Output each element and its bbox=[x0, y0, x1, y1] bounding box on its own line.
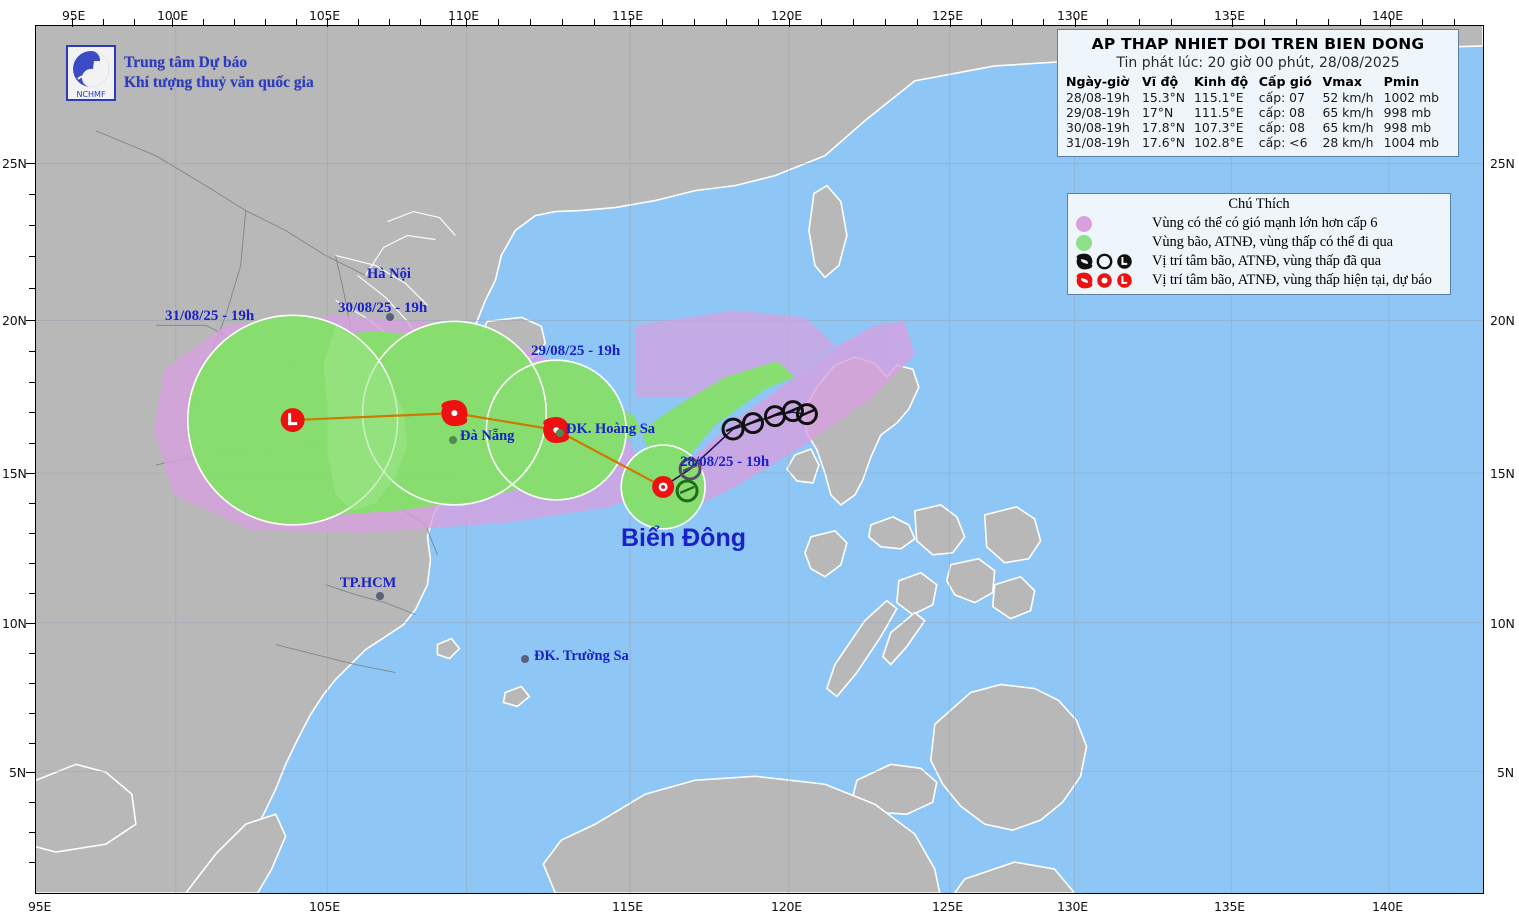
black-typhoon-icon bbox=[1076, 253, 1093, 270]
tick-top bbox=[451, 19, 452, 25]
tick-top bbox=[981, 19, 982, 25]
city-label-ha-noi: Hà Nội bbox=[367, 266, 411, 283]
cell-lon: 115.1°E bbox=[1194, 90, 1259, 105]
tick-top bbox=[1328, 19, 1329, 25]
tick-top bbox=[134, 19, 135, 25]
tick-left bbox=[29, 503, 35, 504]
time-label-31-08: 31/08/25 - 19h bbox=[165, 308, 254, 325]
nchmf-logo-text: Trung tâm Dự báo Khí tượng thuỷ văn quốc… bbox=[124, 53, 314, 93]
tick-left bbox=[29, 256, 35, 257]
tick-left bbox=[29, 653, 35, 654]
lon-label-bottom-135e: 135E bbox=[1214, 899, 1245, 914]
tick-top bbox=[103, 19, 104, 25]
col-lat: Vĩ độ bbox=[1142, 74, 1194, 90]
red-low-icon bbox=[1116, 272, 1133, 289]
tick-top bbox=[1296, 19, 1297, 25]
black-low-icon bbox=[1116, 253, 1133, 270]
tick-top bbox=[853, 19, 854, 25]
tick-top bbox=[1390, 18, 1391, 27]
tick-top bbox=[203, 19, 204, 25]
storm-info-title: AP THAP NHIET DOI TREN BIEN DONG bbox=[1066, 35, 1450, 53]
cell-datetime: 30/08-19h bbox=[1066, 120, 1142, 135]
legend-label-gale-area: Vùng có thể có gió mạnh lớn hơn cấp 6 bbox=[1152, 215, 1377, 232]
lat-label-right-10n: 10N bbox=[1490, 616, 1515, 631]
legend-row-past-positions: Vị trí tâm bão, ATNĐ, vùng thấp đã qua bbox=[1068, 252, 1450, 271]
tick-top bbox=[1012, 19, 1013, 25]
legend-title: Chú Thích bbox=[1068, 196, 1450, 214]
tick-left bbox=[29, 194, 35, 195]
lon-label-top-135e: 135E bbox=[1214, 8, 1245, 23]
red-ring-icon bbox=[1096, 272, 1113, 289]
tick-top bbox=[172, 18, 173, 27]
legend-symbol-purple-area bbox=[1074, 216, 1152, 232]
tick-top bbox=[662, 19, 663, 25]
cell-lon: 107.3°E bbox=[1194, 120, 1259, 135]
cell-lon: 102.8°E bbox=[1194, 135, 1259, 150]
cell-pmin: 1002 mb bbox=[1384, 90, 1450, 105]
green-circle-icon bbox=[1076, 235, 1092, 251]
lon-label-top-105e: 105E bbox=[309, 8, 340, 23]
tick-left bbox=[29, 533, 35, 534]
legend-row-gale-area: Vùng có thể có gió mạnh lớn hơn cấp 6 bbox=[1068, 214, 1450, 233]
col-lon: Kinh độ bbox=[1194, 74, 1259, 90]
cell-vmax: 28 km/h bbox=[1322, 135, 1383, 150]
lon-label-top-115e: 115E bbox=[612, 8, 643, 23]
tick-top bbox=[296, 19, 297, 25]
tick-top bbox=[694, 19, 695, 25]
storm-info-issued: Tin phát lúc: 20 giờ 00 phút, 28/08/2025 bbox=[1066, 55, 1450, 71]
lat-label-left-15n: 15N bbox=[2, 466, 27, 481]
lat-label-right-25n: 25N bbox=[1490, 156, 1515, 171]
cell-lat: 15.3°N bbox=[1142, 90, 1194, 105]
cell-pmin: 998 mb bbox=[1384, 105, 1450, 120]
cell-vmax: 65 km/h bbox=[1322, 105, 1383, 120]
tick-top bbox=[1043, 19, 1044, 25]
cell-datetime: 28/08-19h bbox=[1066, 90, 1142, 105]
cell-datetime: 31/08-19h bbox=[1066, 135, 1142, 150]
cell-vmax: 52 km/h bbox=[1322, 90, 1383, 105]
weather-map-page: Biển Đông Hà Nội Đà Nẵng ĐK. Hoàng Sa TP… bbox=[0, 0, 1519, 919]
tick-top bbox=[72, 18, 73, 27]
cell-cap: cấp: 08 bbox=[1259, 120, 1323, 135]
cell-lat: 17.8°N bbox=[1142, 120, 1194, 135]
cell-datetime: 29/08-19h bbox=[1066, 105, 1142, 120]
legend-label-past-positions: Vị trí tâm bão, ATNĐ, vùng thấp đã qua bbox=[1152, 253, 1381, 270]
tick-top bbox=[1107, 19, 1108, 25]
tick-left bbox=[29, 743, 35, 744]
map-legend-panel: Chú Thích Vùng có thể có gió mạnh lớn hơ… bbox=[1067, 193, 1451, 295]
cell-cap: cấp: 07 bbox=[1259, 90, 1323, 105]
tick-top bbox=[789, 18, 790, 27]
table-row: 29/08-19h 17°N 111.5°E cấp: 08 65 km/h 9… bbox=[1066, 105, 1450, 120]
tick-top bbox=[821, 19, 822, 25]
table-row: 31/08-19h 17.6°N 102.8°E cấp: <6 28 km/h… bbox=[1066, 135, 1450, 150]
tick-top bbox=[1232, 18, 1233, 27]
tick-top bbox=[234, 19, 235, 25]
tick-top bbox=[1360, 19, 1361, 25]
lat-label-left-25n: 25N bbox=[2, 156, 27, 171]
tick-top bbox=[1422, 19, 1423, 25]
tick-left bbox=[29, 563, 35, 564]
legend-label-current-positions: Vị trí tâm bão, ATNĐ, vùng thấp hiện tại… bbox=[1152, 272, 1432, 289]
city-label-truong-sa: ĐK. Trường Sa bbox=[534, 648, 629, 665]
city-dot-tphcm bbox=[376, 592, 384, 600]
col-vmax: Vmax bbox=[1322, 74, 1383, 90]
tick-top bbox=[389, 19, 390, 25]
lat-label-left-5n: 5N bbox=[9, 765, 26, 780]
tick-left bbox=[29, 862, 35, 863]
tick-top bbox=[562, 19, 563, 25]
tick-left bbox=[29, 225, 35, 226]
tick-top bbox=[917, 19, 918, 25]
table-row: 28/08-19h 15.3°N 115.1°E cấp: 07 52 km/h… bbox=[1066, 90, 1450, 105]
nchmf-abbrev-text: NCHMF bbox=[76, 90, 105, 99]
legend-row-current-positions: Vị trí tâm bão, ATNĐ, vùng thấp hiện tại… bbox=[1068, 271, 1450, 290]
lon-label-top-130e: 130E bbox=[1057, 8, 1088, 23]
time-label-28-08: 28/08/25 - 19h bbox=[680, 454, 769, 471]
tick-left bbox=[29, 351, 35, 352]
forecast-marker-30 bbox=[441, 400, 467, 426]
table-row: 30/08-19h 17.8°N 107.3°E cấp: 08 65 km/h… bbox=[1066, 120, 1450, 135]
tick-top bbox=[1075, 18, 1076, 27]
black-ring-icon bbox=[1096, 253, 1113, 270]
tick-top bbox=[726, 19, 727, 25]
tick-top bbox=[327, 18, 328, 27]
tick-top bbox=[1264, 19, 1265, 25]
col-datetime: Ngày-giờ bbox=[1066, 74, 1142, 90]
forecast-table-header-row: Ngày-giờ Vĩ độ Kinh độ Cấp gió Vmax Pmin bbox=[1066, 74, 1450, 90]
tick-left bbox=[29, 713, 35, 714]
lon-label-bottom-125e: 125E bbox=[932, 899, 963, 914]
tick-top bbox=[950, 18, 951, 27]
tick-top bbox=[466, 18, 467, 27]
tick-left bbox=[26, 473, 35, 474]
tick-top bbox=[594, 19, 595, 25]
tick-left bbox=[29, 382, 35, 383]
logo-line-1: Trung tâm Dự báo bbox=[124, 53, 314, 73]
logo-line-2: Khí tượng thuỷ văn quốc gia bbox=[124, 73, 314, 93]
city-label-tphcm: TP.HCM bbox=[340, 575, 396, 592]
cell-vmax: 65 km/h bbox=[1322, 120, 1383, 135]
tick-top bbox=[885, 19, 886, 25]
lon-label-bottom-120e: 120E bbox=[771, 899, 802, 914]
legend-label-track-area: Vùng bão, ATNĐ, vùng thấp có thể đi qua bbox=[1152, 234, 1393, 251]
forecast-marker-31-low bbox=[281, 408, 305, 432]
city-label-hoang-sa: ĐK. Hoàng Sa bbox=[566, 421, 655, 438]
tick-left bbox=[26, 623, 35, 624]
tick-left bbox=[29, 802, 35, 803]
cell-lon: 111.5°E bbox=[1194, 105, 1259, 120]
legend-symbol-past-set bbox=[1074, 253, 1152, 270]
cell-pmin: 998 mb bbox=[1384, 120, 1450, 135]
lon-label-bottom-140e: 140E bbox=[1372, 899, 1403, 914]
time-label-29-08: 29/08/25 - 19h bbox=[531, 343, 620, 360]
lat-label-right-15n: 15N bbox=[1490, 466, 1515, 481]
tick-left bbox=[26, 163, 35, 164]
nchmf-logo-block: NCHMF Trung tâm Dự báo Khí tượng thuỷ vă… bbox=[66, 45, 314, 101]
tick-top bbox=[358, 19, 359, 25]
tick-left bbox=[26, 320, 35, 321]
lat-label-left-10n: 10N bbox=[2, 616, 27, 631]
legend-symbol-current-set bbox=[1074, 272, 1152, 289]
tick-top bbox=[420, 19, 421, 25]
city-label-da-nang: Đà Nẵng bbox=[460, 428, 514, 445]
tick-left bbox=[29, 832, 35, 833]
red-typhoon-icon bbox=[1076, 272, 1093, 289]
lon-label-top-125e: 125E bbox=[932, 8, 963, 23]
time-label-30-08: 30/08/25 - 19h bbox=[338, 300, 427, 317]
nchmf-logo-icon: NCHMF bbox=[66, 45, 116, 101]
city-dot-hoang-sa bbox=[556, 429, 564, 437]
lat-label-left-20n: 20N bbox=[2, 313, 27, 328]
tick-top bbox=[498, 19, 499, 25]
legend-row-track-area: Vùng bão, ATNĐ, vùng thấp có thể đi qua bbox=[1068, 233, 1450, 252]
col-pmin: Pmin bbox=[1384, 74, 1450, 90]
tick-top bbox=[1139, 19, 1140, 25]
cell-lat: 17.6°N bbox=[1142, 135, 1194, 150]
tick-left bbox=[29, 443, 35, 444]
col-cap: Cấp gió bbox=[1259, 74, 1323, 90]
tick-top bbox=[1454, 19, 1455, 25]
tick-left bbox=[26, 772, 35, 773]
tick-left bbox=[29, 412, 35, 413]
cell-cap: cấp: 08 bbox=[1259, 105, 1323, 120]
tick-top bbox=[758, 19, 759, 25]
tick-top bbox=[265, 19, 266, 25]
forecast-table: Ngày-giờ Vĩ độ Kinh độ Cấp gió Vmax Pmin… bbox=[1066, 74, 1450, 150]
lon-label-top-110e: 110E bbox=[448, 8, 479, 23]
city-dot-truong-sa bbox=[521, 655, 529, 663]
tick-left bbox=[29, 593, 35, 594]
current-position-marker bbox=[652, 476, 674, 498]
lon-label-bottom-115e: 115E bbox=[612, 899, 643, 914]
lon-label-bottom-95e: 95E bbox=[28, 899, 51, 914]
tick-top bbox=[530, 19, 531, 25]
lat-label-right-5n: 5N bbox=[1497, 765, 1514, 780]
city-dot-da-nang bbox=[449, 436, 457, 444]
lon-label-top-140e: 140E bbox=[1372, 8, 1403, 23]
cell-cap: cấp: <6 bbox=[1259, 135, 1323, 150]
lat-label-right-20n: 20N bbox=[1490, 313, 1515, 328]
legend-symbol-green-area bbox=[1074, 235, 1152, 251]
storm-info-panel: AP THAP NHIET DOI TREN BIEN DONG Tin phá… bbox=[1057, 29, 1459, 157]
lon-label-bottom-105e: 105E bbox=[309, 899, 340, 914]
purple-circle-icon bbox=[1076, 216, 1092, 232]
lon-label-bottom-130e: 130E bbox=[1057, 899, 1088, 914]
tick-left bbox=[29, 683, 35, 684]
cell-pmin: 1004 mb bbox=[1384, 135, 1450, 150]
tick-left bbox=[29, 288, 35, 289]
tick-top bbox=[1171, 19, 1172, 25]
lon-label-top-95e: 95E bbox=[62, 8, 85, 23]
tick-top bbox=[630, 18, 631, 27]
sea-label-bien-dong: Biển Đông bbox=[621, 524, 746, 553]
cell-lat: 17°N bbox=[1142, 105, 1194, 120]
lon-label-top-120e: 120E bbox=[771, 8, 802, 23]
